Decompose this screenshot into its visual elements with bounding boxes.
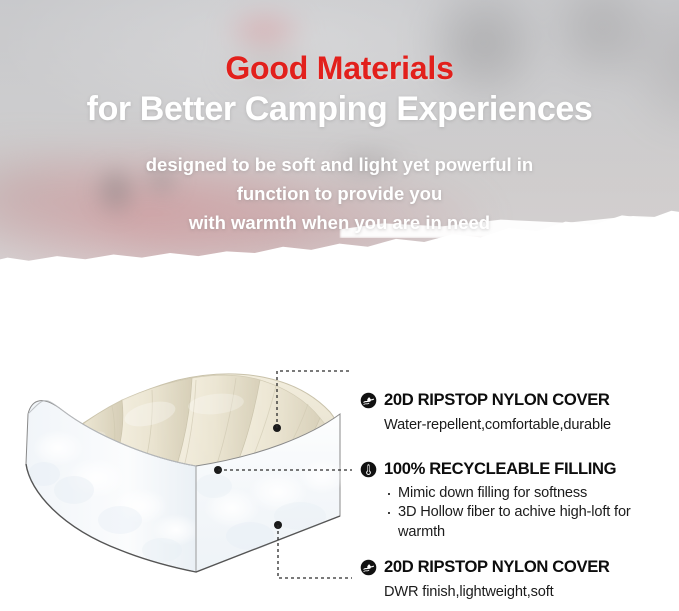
spec-title: 20D RIPSTOP NYLON COVER [384, 559, 610, 576]
spec-title: 100% RECYCLEABLE FILLING [384, 461, 616, 478]
hero-title-secondary: for Better Camping Experiences [0, 92, 679, 128]
snow-fleck [373, 266, 380, 269]
spec-heading: 20D RIPSTOP NYLON COVER [360, 392, 672, 409]
product-infographic: Good Materials for Better Camping Experi… [0, 0, 679, 611]
hero-subtitle-line-2: function to provide you [0, 179, 679, 208]
spec-bullet-list: Mimic down filling for softness 3D Hollo… [386, 484, 672, 542]
product-illustration [0, 340, 360, 611]
spec-heading: 100% RECYCLEABLE FILLING [360, 461, 672, 478]
water-drop-badge-icon [360, 559, 377, 576]
water-drop-badge-icon [360, 392, 377, 409]
hero-banner: Good Materials for Better Camping Experi… [0, 0, 679, 340]
spec-block-nylon-cover-top: 20D RIPSTOP NYLON COVER Water-repellent,… [360, 392, 672, 435]
spec-subtitle: DWR finish,lightweight,soft [384, 583, 672, 602]
hero-title-primary: Good Materials [0, 52, 679, 84]
spec-bullet: 3D Hollow fiber to achive high-loft for … [386, 503, 672, 542]
thermometer-badge-icon [360, 461, 377, 478]
hero-subtitle: designed to be soft and light yet powerf… [0, 150, 679, 238]
hero-subtitle-line-3: with warmth when you are in need [0, 208, 679, 237]
spec-block-recycleable-filling: 100% RECYCLEABLE FILLING Mimic down fill… [360, 461, 672, 542]
hero-text-block: Good Materials for Better Camping Experi… [0, 0, 679, 237]
spec-block-nylon-cover-bottom: 20D RIPSTOP NYLON COVER DWR finish,light… [360, 559, 672, 602]
hero-subtitle-line-1: designed to be soft and light yet powerf… [0, 150, 679, 179]
spec-subtitle: Water-repellent,comfortable,durable [384, 416, 672, 435]
spec-bullet: Mimic down filling for softness [386, 484, 672, 503]
materials-diagram-section: 20D RIPSTOP NYLON COVER Water-repellent,… [0, 340, 679, 611]
spec-heading: 20D RIPSTOP NYLON COVER [360, 559, 672, 576]
spec-title: 20D RIPSTOP NYLON COVER [384, 392, 610, 409]
